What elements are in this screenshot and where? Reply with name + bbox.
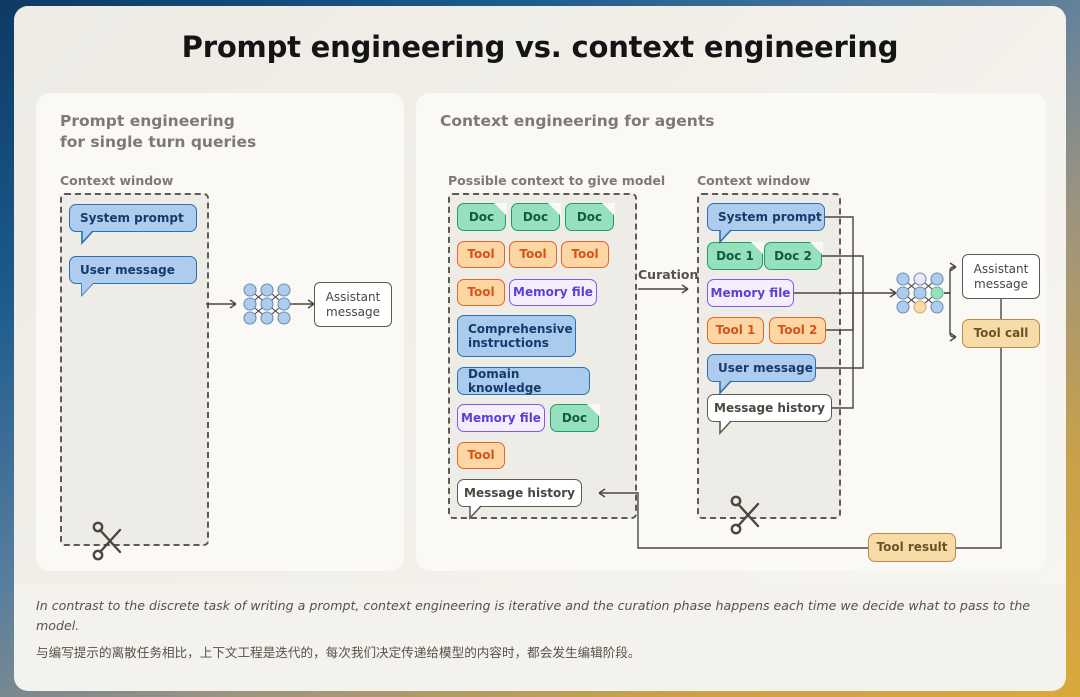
box-label: Tool result	[877, 540, 948, 554]
bubble-tail	[720, 421, 731, 433]
box-tool-call[interactable]: Tool call	[962, 319, 1040, 348]
chip-tool[interactable]: Tool	[457, 241, 505, 268]
chip-comprehensive-instructions[interactable]: Comprehensive instructions	[457, 315, 576, 357]
bubble-tail	[720, 230, 731, 242]
panel-context-engineering: Context engineering for agents Possible …	[416, 93, 1046, 571]
doc-fold-icon	[494, 203, 507, 216]
bubble-tail	[82, 283, 93, 295]
chip-label: Tool	[467, 285, 494, 299]
diagram-frame: Prompt engineering vs. context engineeri…	[14, 6, 1066, 691]
chip-label: Comprehensive instructions	[468, 322, 573, 351]
chip-label: Message history	[714, 401, 825, 415]
label-curation: Curation	[638, 267, 698, 282]
doc-fold-icon	[810, 242, 823, 255]
caption-chinese: 与编写提示的离散任务相比，上下文工程是迭代的，每次我们决定传递给模型的内容时，都…	[36, 643, 1044, 663]
chip-doc[interactable]: Doc	[565, 203, 614, 231]
chip-label: Memory file	[461, 411, 541, 425]
chip-label: Tool 1	[716, 323, 756, 337]
chip-label: Memory file	[513, 285, 593, 299]
chip-message-history[interactable]: Message history	[707, 394, 832, 422]
bubble-tail	[720, 381, 731, 393]
chip-label: User message	[80, 263, 175, 277]
doc-fold-icon	[587, 404, 600, 417]
chip-label: Tool 2	[778, 323, 818, 337]
caption-english: In contrast to the discrete task of writ…	[36, 596, 1044, 635]
panel-right-heading: Context engineering for agents	[440, 111, 714, 132]
chip-label: System prompt	[80, 211, 184, 225]
chip-label: Tool	[467, 448, 494, 462]
doc-fold-icon	[548, 203, 561, 216]
diagram-canvas: Prompt engineering vs. context engineeri…	[14, 6, 1066, 584]
chip-doc[interactable]: Doc	[457, 203, 506, 231]
chip-label: Message history	[464, 486, 575, 500]
doc-fold-icon	[751, 242, 764, 255]
chip-label: Memory file	[711, 286, 791, 300]
chip-memory-file[interactable]: Memory file	[457, 404, 545, 432]
box-assistant-message[interactable]: Assistant message	[962, 254, 1040, 299]
box-label: Tool call	[974, 326, 1029, 340]
chip-doc[interactable]: Doc	[550, 404, 599, 432]
chip-tool[interactable]: Tool	[457, 442, 505, 469]
chip-label: Doc 1	[716, 249, 754, 263]
chip-tool[interactable]: Tool	[509, 241, 557, 268]
chip-label: User message	[718, 361, 813, 375]
bubble-tail	[470, 506, 481, 518]
chip-label: Doc	[562, 411, 587, 425]
chip-user-message[interactable]: User message	[69, 256, 197, 284]
label-possible-context: Possible context to give model	[448, 173, 665, 188]
chip-label: System prompt	[718, 210, 822, 224]
chip-label: Tool	[571, 247, 598, 261]
chip-label: Doc	[469, 210, 494, 224]
chip-user-message[interactable]: User message	[707, 354, 816, 382]
box-label: Assistant message	[974, 262, 1029, 291]
panel-prompt-engineering: Prompt engineering for single turn queri…	[36, 93, 404, 571]
chip-domain-knowledge[interactable]: Domain knowledge	[457, 367, 590, 395]
chip-doc[interactable]: Doc	[511, 203, 560, 231]
chip-doc-2[interactable]: Doc 2	[764, 242, 822, 270]
chip-system-prompt[interactable]: System prompt	[69, 204, 197, 232]
chip-tool-1[interactable]: Tool 1	[707, 317, 764, 344]
box-tool-result[interactable]: Tool result	[868, 533, 956, 562]
doc-fold-icon	[602, 203, 615, 216]
chip-message-history[interactable]: Message history	[457, 479, 582, 507]
chip-label: Doc	[577, 210, 602, 224]
chip-tool[interactable]: Tool	[561, 241, 609, 268]
label-context-window-left: Context window	[60, 173, 173, 188]
panel-left-heading: Prompt engineering for single turn queri…	[60, 111, 256, 153]
chip-label: Doc 2	[774, 249, 812, 263]
label-context-window-right: Context window	[697, 173, 810, 188]
chip-memory-file[interactable]: Memory file	[509, 279, 597, 306]
chip-system-prompt[interactable]: System prompt	[707, 203, 825, 231]
chip-label: Tool	[467, 247, 494, 261]
box-assistant-message-left[interactable]: Assistant message	[314, 282, 392, 327]
chip-doc-1[interactable]: Doc 1	[707, 242, 763, 270]
chip-label: Doc	[523, 210, 548, 224]
chip-label: Tool	[519, 247, 546, 261]
context-window-left	[60, 193, 209, 546]
bubble-tail	[82, 231, 93, 243]
chip-memory-file[interactable]: Memory file	[707, 279, 794, 307]
chip-tool[interactable]: Tool	[457, 279, 505, 306]
chip-tool-2[interactable]: Tool 2	[769, 317, 826, 344]
box-label: Assistant message	[326, 290, 381, 319]
chip-label: Domain knowledge	[468, 367, 589, 396]
page-title: Prompt engineering vs. context engineeri…	[14, 30, 1066, 64]
